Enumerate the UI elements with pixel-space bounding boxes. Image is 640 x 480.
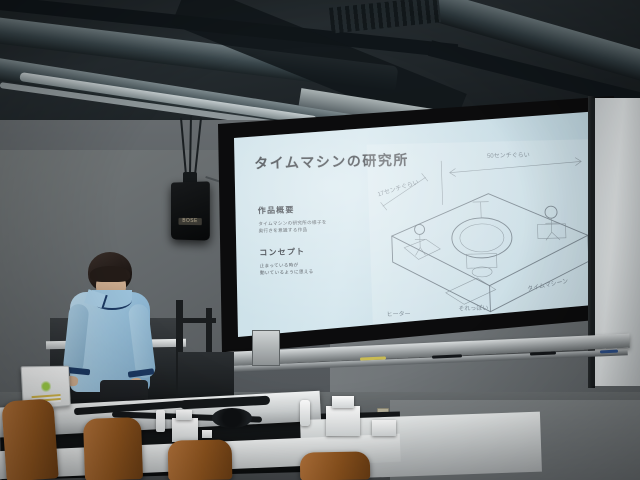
wooden-chair-4[interactable] [300, 451, 370, 480]
svg-text:ヒーター: ヒーター [386, 310, 410, 319]
section-heading-concept: コンセプト [259, 246, 313, 258]
white-model-right-cap [332, 396, 354, 408]
white-model-box [172, 418, 198, 442]
white-model-right-tall [300, 400, 310, 426]
section-heading-overview: 作品概要 [258, 204, 327, 217]
presenter-standing [64, 252, 156, 422]
laptop-screen-logo [41, 381, 51, 394]
svg-text:17センチぐらい: 17センチぐらい [377, 179, 420, 198]
hair-fringe [90, 266, 130, 282]
ceiling-speaker: BOSE [171, 181, 210, 240]
svg-text:50センチぐらい: 50センチぐらい [487, 152, 530, 160]
section-body-overview: タイムマシンの研究所の様子を 奥行きを意識する作品 [258, 219, 327, 235]
white-model-small [202, 430, 212, 438]
lab-equipment-box [252, 330, 280, 366]
photo-scene: BOSE 150424 山本靖宏 タイムマシンの研究所 作品概要 タイムマシンの… [0, 0, 640, 480]
sailor-collar [92, 290, 132, 310]
wooden-chair-2[interactable] [83, 417, 143, 480]
white-model-tall [156, 410, 165, 432]
slide-section-concept: コンセプト 止まっている時が 動いているように思える [259, 246, 314, 277]
speaker-brand-badge: BOSE [179, 218, 202, 225]
hand-drawn-isometric-sketch: 17センチぐらい 50センチぐらい ヒーター それっぽい タイムマシーン [367, 139, 605, 325]
wooden-chair-3[interactable] [168, 439, 233, 480]
svg-text:タイムマシーン: タイムマシーン [527, 277, 569, 293]
shelf-rail [176, 318, 216, 323]
ceiling-vent-grille [329, 0, 441, 34]
section-body-concept: 止まっている時が 動いているように思える [260, 261, 314, 277]
wooden-chair-1[interactable] [1, 398, 58, 480]
slide-section-overview: 作品概要 タイムマシンの研究所の様子を 奥行きを意識する作品 [258, 204, 327, 235]
white-model-cap [176, 410, 192, 420]
svg-text:それっぽい: それっぽい [458, 304, 488, 313]
white-model-right-small [372, 420, 396, 436]
cable-coil [212, 408, 252, 428]
white-model-right-box [326, 406, 360, 436]
